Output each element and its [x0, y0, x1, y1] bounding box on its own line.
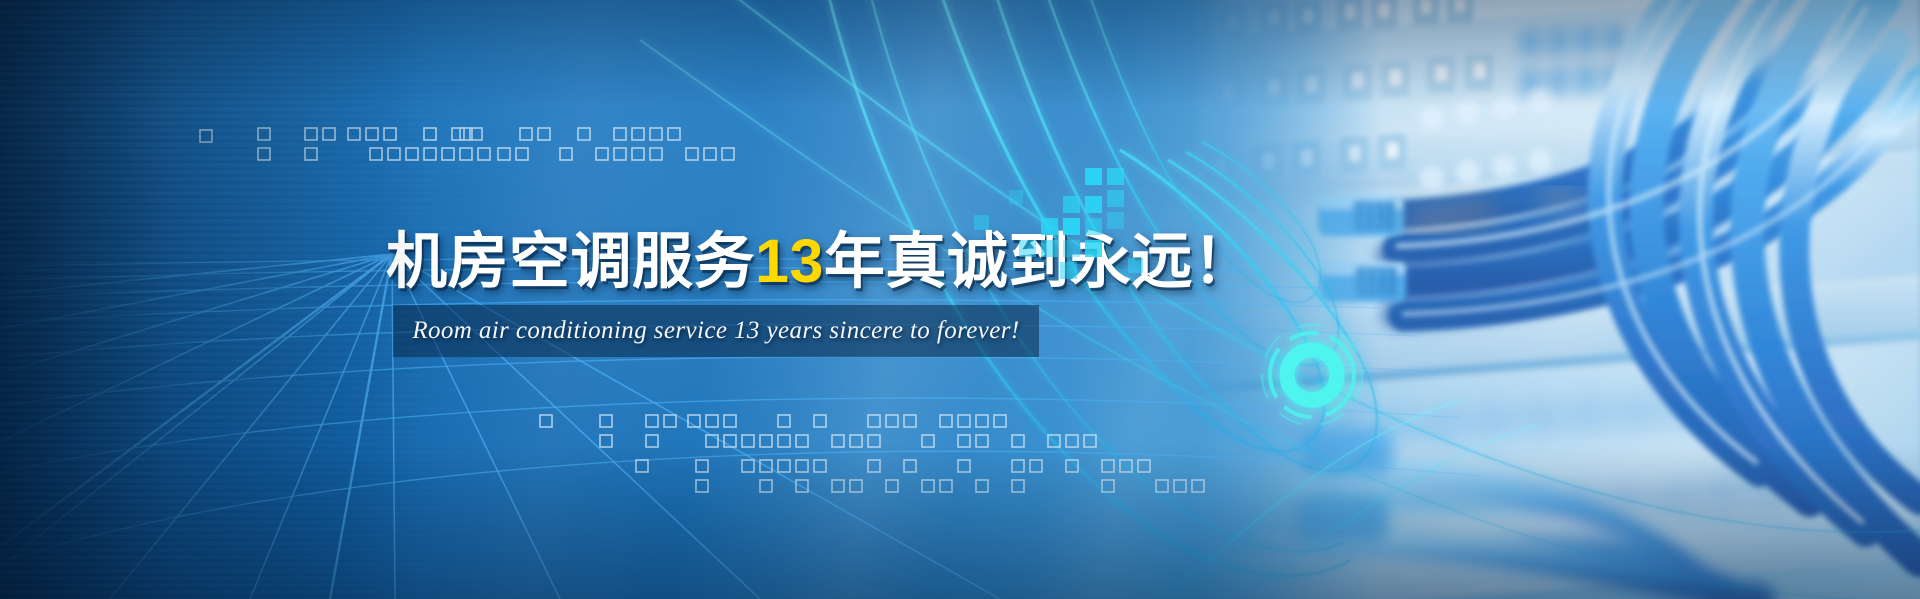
headline-number: 13 [755, 227, 824, 295]
headline-prefix: 机房空调服务 [386, 227, 755, 295]
rj45-connectors [1296, 196, 1406, 542]
hero-banner: 机房空调服务13年真诚到永远！ Room air conditioning se… [0, 0, 1920, 599]
ethernet-cables [1320, 0, 1920, 599]
rack-lower-ports [1130, 391, 1798, 542]
subtitle: Room air conditioning service 13 years s… [393, 305, 1039, 357]
headline: 机房空调服务13年真诚到永远！ [386, 211, 1254, 300]
headline-suffix: 年真诚到永远！ [824, 227, 1255, 295]
rj45-port-array [1168, 0, 1624, 190]
